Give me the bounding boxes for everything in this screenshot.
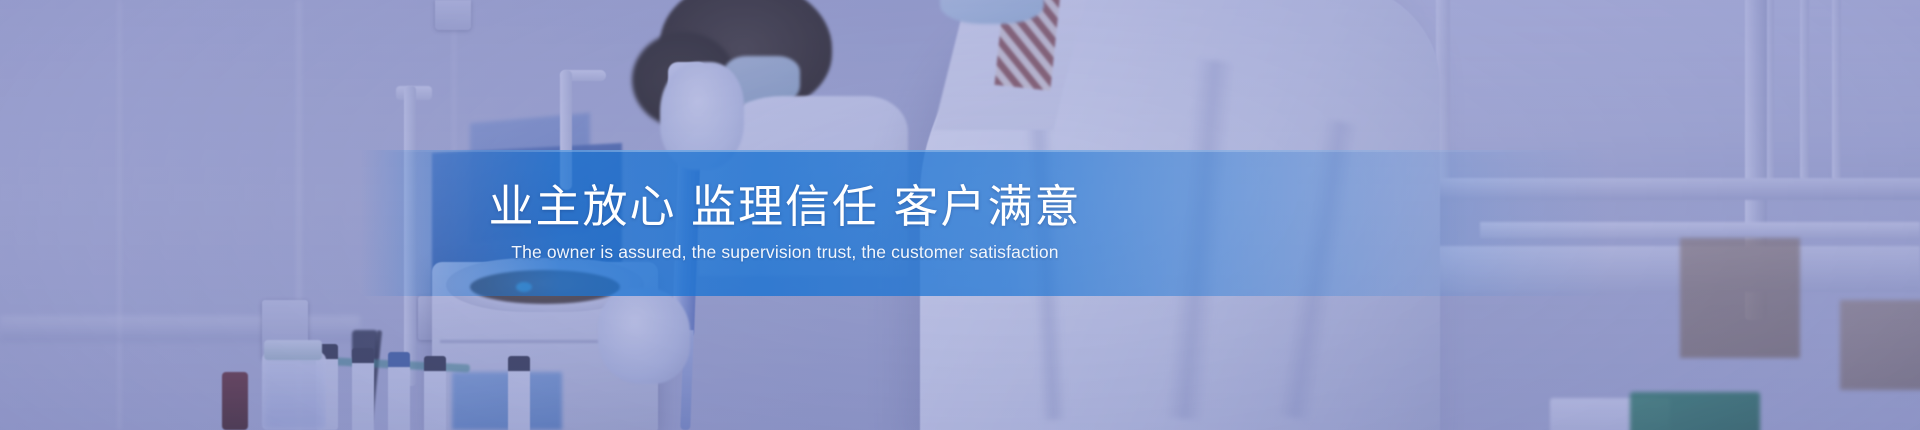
hero-banner: 业主放心 监理信任 客户满意 The owner is assured, the… (0, 0, 1920, 430)
banner-headline: 业主放心 监理信任 客户满意 (488, 183, 1081, 232)
banner-subheadline: The owner is assured, the supervision tr… (511, 242, 1058, 263)
slogan-block: 业主放心 监理信任 客户满意 The owner is assured, the… (0, 150, 1920, 296)
